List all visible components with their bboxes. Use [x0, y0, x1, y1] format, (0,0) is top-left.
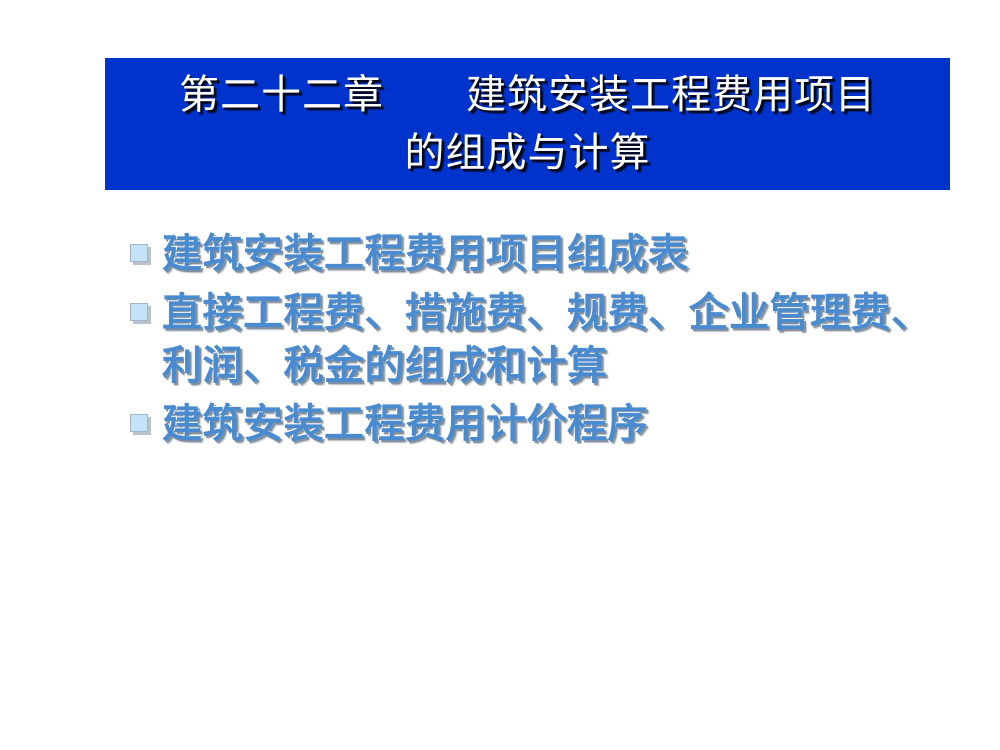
slide-title-line-1: 第二十二章 建筑安装工程费用项目 [179, 66, 876, 124]
slide-title-line-2: 的组成与计算 [405, 124, 651, 182]
bullet-item-1-label: 建筑安装工程费用项目组成表 [162, 228, 970, 281]
bullet-item-1: 建筑安装工程费用项目组成表 [130, 228, 970, 281]
square-bullet-icon [130, 303, 148, 321]
bullet-item-2: 直接工程费、措施费、规费、企业管理费、利润、税金的组成和计算 [130, 287, 970, 393]
presentation-slide: 第二十二章 建筑安装工程费用项目 的组成与计算 建筑安装工程费用项目组成表 直接… [0, 0, 1000, 750]
bullet-item-2-label: 直接工程费、措施费、规费、企业管理费、利润、税金的组成和计算 [162, 287, 952, 393]
square-bullet-icon [130, 414, 148, 432]
square-bullet-icon [130, 244, 148, 262]
bullet-item-3-label: 建筑安装工程费用计价程序 [162, 398, 970, 451]
slide-title-banner: 第二十二章 建筑安装工程费用项目 的组成与计算 [105, 58, 950, 190]
slide-bullet-list: 建筑安装工程费用项目组成表 直接工程费、措施费、规费、企业管理费、利润、税金的组… [130, 228, 970, 457]
bullet-item-3: 建筑安装工程费用计价程序 [130, 398, 970, 451]
